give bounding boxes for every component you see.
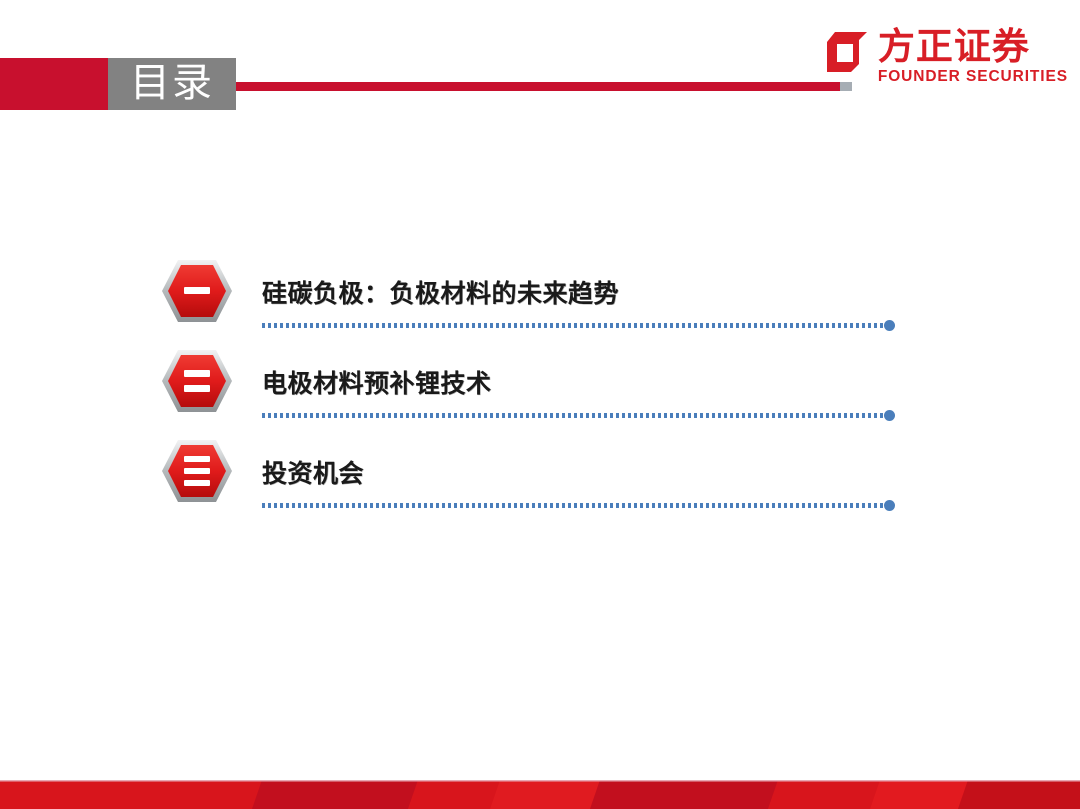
logo-english-name: FOUNDER SECURITIES xyxy=(878,68,1068,86)
logo-chinese-name: 方正证券 xyxy=(878,28,1030,66)
header-red-accent-block xyxy=(0,58,108,110)
toc-end-dot xyxy=(884,500,895,511)
toc-item[interactable]: 投资机会 xyxy=(0,430,1080,520)
toc-end-dot xyxy=(884,410,895,421)
logo-text-group: 方正证券 FOUNDER SECURITIES xyxy=(878,28,1068,86)
toc-end-dot xyxy=(884,320,895,331)
toc-item-label: 电极材料预补锂技术 xyxy=(262,364,492,400)
toc-item[interactable]: 电极材料预补锂技术 xyxy=(0,340,1080,430)
toc-leader-dots xyxy=(262,503,888,508)
founder-securities-square-mark-icon xyxy=(825,30,869,74)
toc-item-label: 投资机会 xyxy=(262,454,364,490)
toc-item-label: 硅碳负极：负极材料的未来趋势 xyxy=(262,274,619,310)
hexagon-numeral-two-icon xyxy=(160,348,234,414)
slide-canvas: 目录 方正证券 FOUNDER SECURITIES xyxy=(0,0,1080,809)
header-red-rule xyxy=(236,82,840,91)
header-title-block: 目录 xyxy=(108,58,236,110)
toc-leader-dots xyxy=(262,413,888,418)
bottom-bar-segments xyxy=(0,780,1080,809)
bottom-decorative-bar xyxy=(0,780,1080,809)
page-title: 目录 xyxy=(130,63,214,103)
toc-leader-dots xyxy=(262,323,888,328)
toc-item[interactable]: 硅碳负极：负极材料的未来趋势 xyxy=(0,250,1080,340)
hexagon-numeral-three-icon xyxy=(160,438,234,504)
hexagon-numeral-one-icon xyxy=(160,258,234,324)
table-of-contents: 硅碳负极：负极材料的未来趋势 电极材料预补锂技术 xyxy=(0,250,1080,520)
brand-logo: 方正证券 FOUNDER SECURITIES xyxy=(825,28,1068,86)
